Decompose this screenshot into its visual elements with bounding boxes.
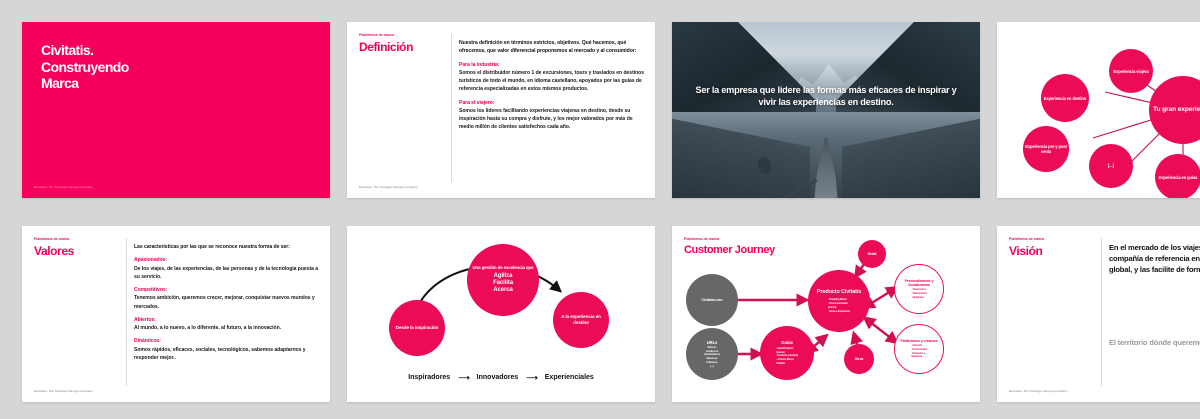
gestion-word-facilita: Facilita [493, 280, 513, 287]
arrow-right-icon: ⟶ [526, 373, 536, 382]
fidelizamos-title: Fidelizamos y creamos [900, 339, 937, 343]
journey-diagram: Civitatis.com URLs Paris.es Londres.es A… [672, 226, 980, 402]
experience-bubble-diagram: Tu gran experiencia Experiencia viajera … [997, 22, 1200, 198]
valores-heading-1: Apasionados: [134, 257, 167, 263]
slide-definicion[interactable]: Plataforma de marca Definición Nuestra d… [347, 22, 655, 198]
flow-labels: Inspiradores ⟶ Innovadores ⟶ Experiencia… [347, 373, 655, 382]
fjord-photo [672, 22, 980, 198]
guias-items: · Guía Producto (marca) · Producto (dest… [776, 347, 798, 366]
valores-body: Las características por las que se recon… [134, 243, 320, 362]
slide-footer: Brandom. The Strategic Design Company [34, 185, 93, 189]
guias-title: Guías [781, 340, 793, 345]
slide-vision[interactable]: Plataforma de marca Visión En el mercado… [997, 226, 1200, 402]
urls-items: Paris.es Londres.es Amsterdam.es Oporto.… [704, 346, 720, 369]
slide-footer: Brandom. The Strategic Design Company [359, 185, 418, 189]
slide-eyebrow: Plataforma de marca [1009, 237, 1044, 241]
definicion-text-1: Somos el distribuidor número 1 de excurs… [459, 70, 644, 93]
valores-text-3: Al mundo, a lo nuevo, a lo diferente, al… [134, 325, 281, 331]
producto-items: · Branding Marca · Posicionamiento (marc… [828, 298, 850, 313]
bubble-experiencia-preypost[interactable]: Experiencia pre y post venta [1023, 126, 1069, 172]
slide-gestion[interactable]: Desde la inspiración Una gestión de exce… [347, 226, 655, 402]
definicion-body: Nuestra definición en términos estrictos… [459, 39, 645, 132]
arrow-right-icon: ⟶ [458, 373, 468, 382]
vertical-divider [1101, 238, 1102, 386]
gestion-diagram: Desde la inspiración Una gestión de exce… [347, 226, 655, 402]
bubble-urls[interactable]: URLs Paris.es Londres.es Amsterdam.es Op… [686, 328, 738, 380]
valores-text-4: Somos rápidos, eficaces, sociales, tecno… [134, 347, 306, 361]
slide-experiencia[interactable]: Tu gran experiencia Experiencia viajera … [997, 22, 1200, 198]
cover-title: Civitatis. Construyendo Marca [41, 42, 129, 92]
gestion-word-acerca: Acerca [493, 287, 512, 294]
slide-cover[interactable]: Civitatis. Construyendo Marca Brandom. T… [22, 22, 330, 198]
mision-statement: Ser la empresa que lidere las formas más… [672, 84, 980, 109]
slide-mision[interactable]: Ser la empresa que lidere las formas más… [672, 22, 980, 198]
flow-label-inspiradores: Inspiradores [408, 374, 450, 381]
bubble-guias[interactable]: Guías · Guía Producto (marca) · Producto… [760, 326, 814, 380]
page-title: Valores [34, 244, 74, 258]
slide-footer: Brandom. The Strategic Design Company [1009, 389, 1068, 393]
bubble-retail[interactable]: Retail [858, 240, 886, 268]
slide-eyebrow: Plataforma de marca [359, 33, 394, 37]
bubble-experiencia-viajera[interactable]: Experiencia viajera [1109, 49, 1153, 93]
producto-title: Producto Civitatis [817, 289, 861, 296]
bubble-personalizamos[interactable]: Personalizamos y Socializamos · Testimon… [894, 264, 944, 314]
definicion-lead: Nuestra definición en términos estrictos… [459, 39, 645, 56]
personalizamos-items: · Testimonios · Valoraciones · Opiniones [911, 288, 927, 299]
bubble-experiencia-guias[interactable]: Experiencia en guías [1155, 154, 1200, 198]
flow-label-experienciales: Experienciales [545, 374, 594, 381]
slide-valores[interactable]: Plataforma de marca Valores Las caracter… [22, 226, 330, 402]
cover-line-3: Marca [41, 75, 129, 92]
bubble-ellipsis[interactable]: [...] [1089, 144, 1133, 188]
page-title: Definición [359, 40, 413, 54]
bubble-gestion-excelencia[interactable]: Una gestión de excelencia que Agiliza Fa… [467, 244, 539, 316]
cover-line-1: Civitatis. [41, 42, 129, 59]
valores-text-1: De los viajes, de las experiencias, de l… [134, 266, 318, 280]
vertical-divider [126, 238, 127, 386]
slide-customer-journey[interactable]: Plataforma de marca Customer Journey [672, 226, 980, 402]
valores-lead: Las características por las que se recon… [134, 243, 320, 251]
gestion-word-agiliza: Agiliza [494, 273, 513, 280]
slide-eyebrow: Plataforma de marca [34, 237, 69, 241]
valores-heading-3: Abiertos: [134, 317, 156, 323]
valores-heading-2: Competitivos: [134, 287, 167, 293]
cover-line-2: Construyendo [41, 59, 129, 76]
definicion-heading-1: Para la industria: [459, 62, 499, 68]
bubble-civitatis-com[interactable]: Civitatis.com [686, 274, 738, 326]
bubble-producto-civitatis[interactable]: Producto Civitatis · Branding Marca · Po… [808, 270, 870, 332]
page-title: Visión [1009, 244, 1042, 258]
bubble-experiencia-destino[interactable]: A la experiencia en destino [553, 292, 609, 348]
urls-title: URLs [707, 340, 718, 345]
definicion-heading-2: Para el viajero: [459, 100, 494, 106]
definicion-text-2: Somos los líderes facilitando experienci… [459, 108, 633, 131]
slide-grid: Civitatis. Construyendo Marca Brandom. T… [0, 0, 1200, 419]
slide-footer: Brandom. The Strategic Design Company [34, 389, 93, 393]
bubble-experiencia-destino[interactable]: Experiencia en destino [1041, 74, 1089, 122]
vision-subtext: El territorio dónde queremos ser en refe… [1109, 338, 1200, 349]
vertical-divider [451, 34, 452, 182]
bubble-desde-inspiracion[interactable]: Desde la inspiración [389, 300, 445, 356]
flow-label-innovadores: Innovadores [477, 374, 519, 381]
gestion-center-lead: Una gestión de excelencia que [472, 265, 533, 270]
valores-text-2: Tenemos ambición, queremos crecer, mejor… [134, 295, 315, 309]
bubble-center[interactable]: Tu gran experiencia [1149, 76, 1200, 144]
bubble-otros[interactable]: Otros [844, 344, 874, 374]
valores-heading-4: Dinámicos: [134, 338, 161, 344]
vision-body: En el mercado de los viajes el futuro se… [1109, 243, 1200, 275]
fidelizamos-items: · Atención · Promociones · Exclusivo y r… [911, 344, 927, 359]
bubble-fidelizamos[interactable]: Fidelizamos y creamos · Atención · Promo… [894, 324, 944, 374]
personalizamos-title: Personalizamos y Socializamos [899, 279, 939, 288]
